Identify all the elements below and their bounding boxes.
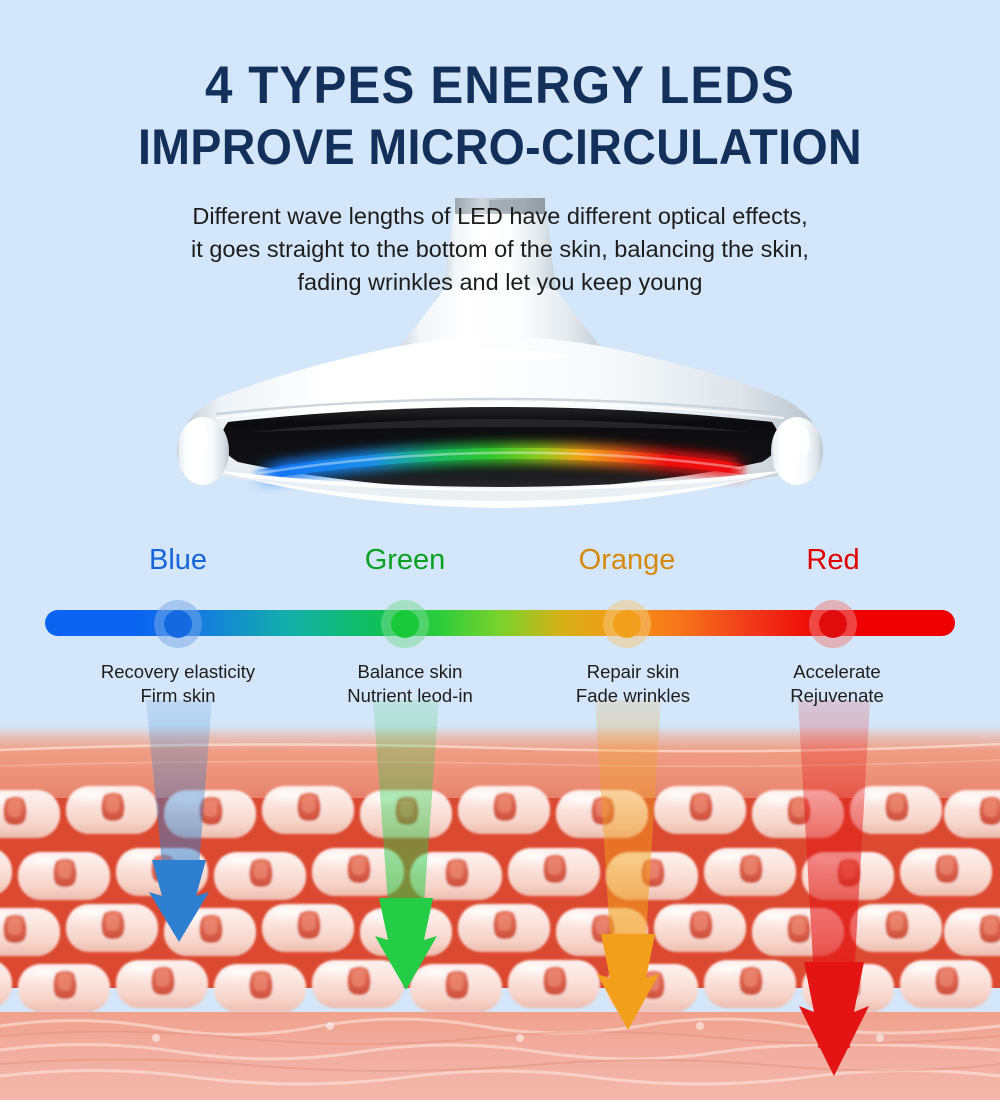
page-subtitle: Different wave lengths of LED have diffe… (0, 200, 1000, 299)
light-beam-group (0, 700, 1000, 1100)
caption-blue-line-1: Recovery elasticity (101, 660, 255, 684)
node-core-green (391, 610, 419, 638)
node-core-blue (164, 610, 192, 638)
spectrum-label-red: Red (806, 542, 859, 578)
subtitle-line-1: Different wave lengths of LED have diffe… (0, 200, 1000, 233)
spectrum-captions: Recovery elasticity Firm skin Balance sk… (0, 660, 1000, 716)
title-line-1: 4 TYPES ENERGY LEDS (35, 58, 965, 114)
caption-green-line-1: Balance skin (347, 660, 472, 684)
caption-orange-line-2: Fade wrinkles (576, 684, 690, 708)
node-core-red (819, 610, 847, 638)
beam-red (798, 700, 870, 1076)
caption-blue-line-2: Firm skin (101, 684, 255, 708)
caption-green: Balance skin Nutrient leod-in (347, 660, 472, 708)
caption-orange-line-1: Repair skin (576, 660, 690, 684)
beam-orange (595, 700, 661, 1030)
spectrum-label-blue: Blue (149, 542, 207, 578)
spectrum-color-labels: Blue Green Orange Red (0, 542, 1000, 578)
page-title: 4 TYPES ENERGY LEDS IMPROVE MICRO-CIRCUL… (0, 58, 1000, 174)
node-core-orange (613, 610, 641, 638)
caption-red: Accelerate Rejuvenate (790, 660, 884, 708)
spectrum-label-green: Green (365, 542, 446, 578)
beam-blue (146, 700, 212, 942)
caption-red-line-2: Rejuvenate (790, 684, 884, 708)
subtitle-line-3: fading wrinkles and let you keep young (0, 266, 1000, 299)
spectrum-label-orange: Orange (579, 542, 676, 578)
subtitle-line-2: it goes straight to the bottom of the sk… (0, 233, 1000, 266)
infographic-canvas: 4 TYPES ENERGY LEDS IMPROVE MICRO-CIRCUL… (0, 0, 1000, 1100)
caption-blue: Recovery elasticity Firm skin (101, 660, 255, 708)
spectrum-bar-zone (0, 598, 1000, 650)
title-line-2: IMPROVE MICRO-CIRCULATION (35, 120, 965, 174)
caption-red-line-1: Accelerate (790, 660, 884, 684)
caption-orange: Repair skin Fade wrinkles (576, 660, 690, 708)
caption-green-line-2: Nutrient leod-in (347, 684, 472, 708)
beam-green (373, 700, 439, 990)
